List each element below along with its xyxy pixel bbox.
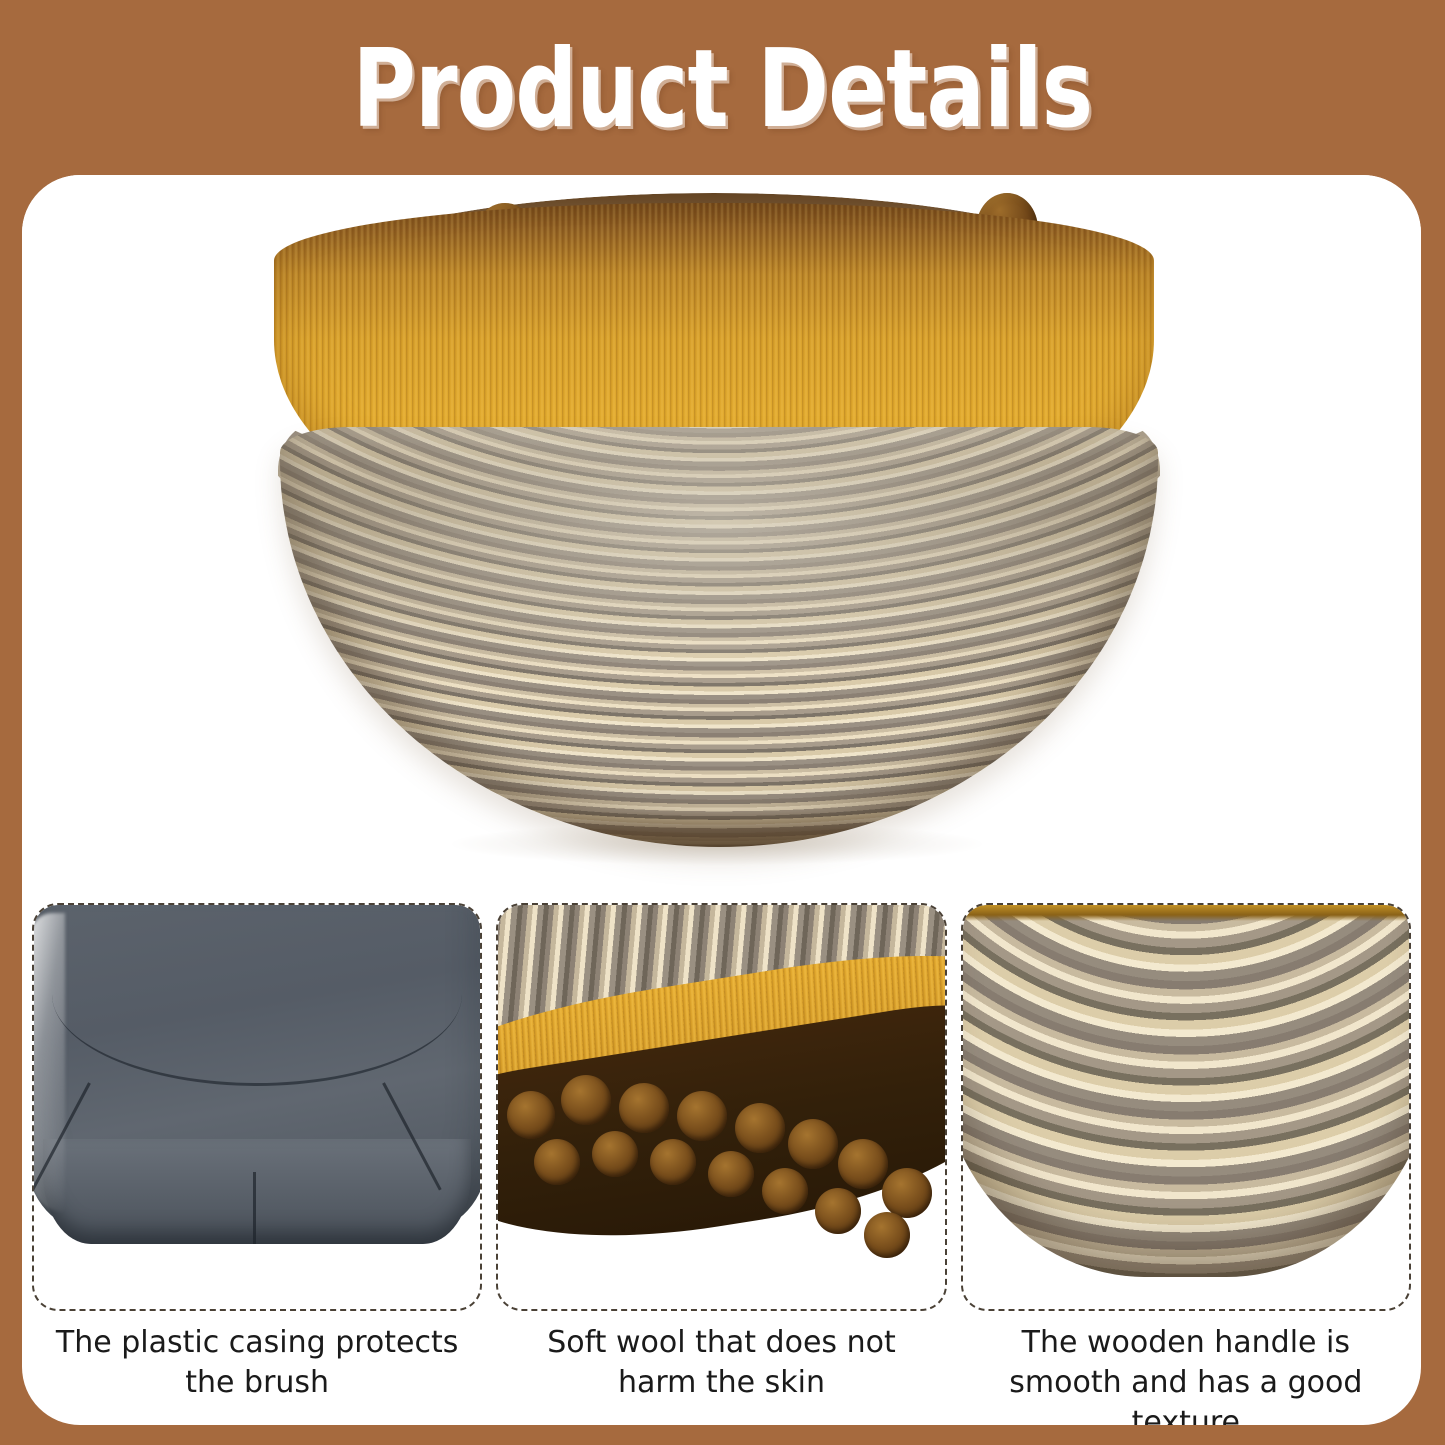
- macro-bristle-nub: [838, 1139, 888, 1189]
- casing-lip: [43, 1139, 471, 1244]
- detail-thumbnail-wooden-handle[interactable]: [961, 903, 1411, 1311]
- product-details-page: Product Details: [0, 0, 1445, 1445]
- casing-highlight: [34, 913, 65, 1212]
- macro-bristle-nub: [864, 1212, 910, 1258]
- macro-bristle-nub: [592, 1131, 638, 1177]
- detail-thumbnail-plastic-casing[interactable]: [32, 903, 482, 1311]
- plastic-casing-photo: [34, 905, 480, 1309]
- hero-product-image[interactable]: [22, 175, 1421, 887]
- macro-bristle-nub: [561, 1075, 611, 1125]
- macro-bristle-nub: [762, 1168, 808, 1214]
- wooden-handle-texture-photo: [963, 905, 1409, 1309]
- macro-bristle-nub: [815, 1188, 861, 1234]
- product-drop-shadow: [452, 823, 982, 865]
- caption-plastic-casing: The plastic casing protects the brush: [32, 1323, 482, 1423]
- detail-thumbnail-row: [32, 903, 1411, 1311]
- casing-seam-base: [253, 1172, 256, 1245]
- page-title: Product Details: [353, 36, 1093, 144]
- soft-wool-bristles-photo: [498, 905, 944, 1309]
- detail-caption-row: The plastic casing protects the brush So…: [32, 1323, 1411, 1423]
- header-bar: Product Details: [0, 0, 1445, 175]
- macro-bristle-nub: [735, 1103, 785, 1153]
- detail-thumbnail-soft-wool[interactable]: [496, 903, 946, 1311]
- macro-bristle-nub: [677, 1091, 727, 1141]
- wood-grain-texture: [963, 905, 1409, 1277]
- macro-bristle-nub: [507, 1091, 555, 1139]
- wood-gold-edge: [963, 905, 1409, 921]
- content-card: The plastic casing protects the brush So…: [22, 175, 1421, 1425]
- caption-wooden-handle: The wooden handle is smooth and has a go…: [961, 1323, 1411, 1423]
- macro-bristle-nub: [882, 1168, 932, 1218]
- caption-soft-wool: Soft wool that does not harm the skin: [496, 1323, 946, 1423]
- wooden-handle: [280, 427, 1158, 847]
- macro-bristle-nub: [619, 1083, 669, 1133]
